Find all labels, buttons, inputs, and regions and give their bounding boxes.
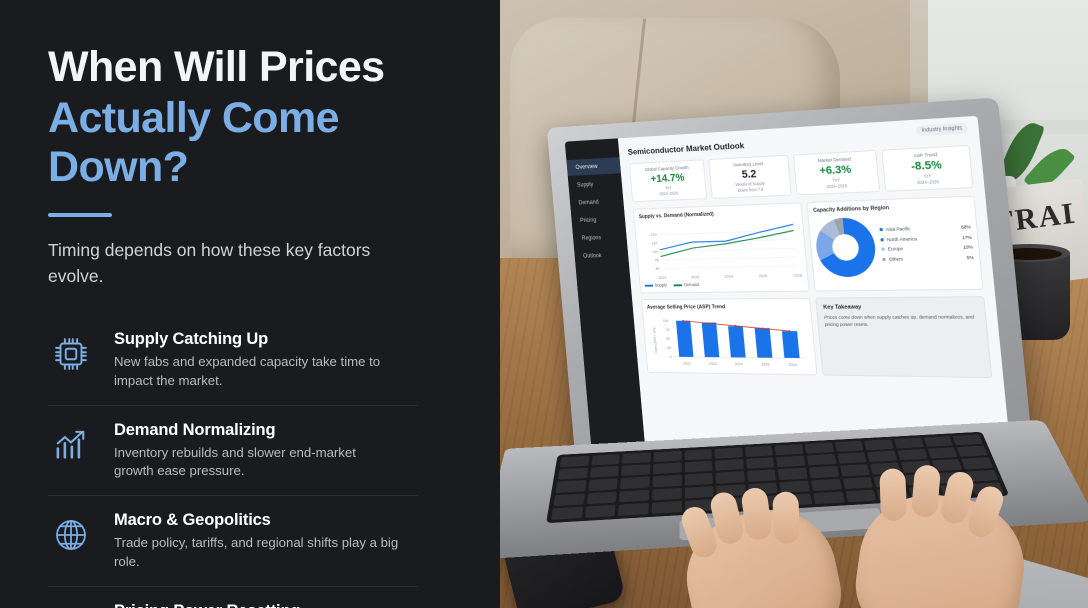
takeaway-title: Key Takeaway [823, 304, 978, 311]
list-item-text: Supply Catching Up New fabs and expanded… [114, 329, 399, 390]
chart-legend: Supply Demand [645, 281, 804, 288]
list-item-text: Macro & Geopolitics Trade policy, tariff… [114, 510, 399, 571]
legend-swatch [880, 228, 883, 231]
svg-text:50: 50 [666, 337, 670, 341]
chip-icon [48, 331, 94, 377]
list-item-text: Demand Normalizing Inventory rebuilds an… [114, 420, 399, 481]
key[interactable] [775, 444, 804, 455]
donut-chart: Asia Pacific 68% North America 17% [814, 212, 976, 280]
key[interactable] [811, 479, 841, 491]
laptop-screen: Overview Supply Demand Pricing Regions O… [565, 116, 1013, 476]
key[interactable] [814, 491, 845, 504]
key[interactable] [927, 447, 957, 458]
line-chart: 809010011012020222023202420252026 [639, 218, 802, 282]
key[interactable] [897, 449, 927, 460]
dashboard-main: Industry Insights Semiconductor Market O… [618, 116, 1013, 476]
legend-label: Asia Pacific [886, 225, 961, 232]
key[interactable] [845, 489, 876, 502]
list-item-title: Supply Catching Up [114, 330, 399, 349]
donut-ring [814, 217, 878, 277]
svg-text:25: 25 [667, 346, 671, 350]
legend-label: North America [887, 235, 963, 242]
key[interactable] [585, 505, 616, 518]
list-item-description: New fabs and expanded capacity take time… [114, 353, 399, 390]
key[interactable] [591, 454, 620, 466]
key[interactable] [684, 473, 713, 485]
list-item-description: Inventory rebuilds and slower end-market… [114, 444, 399, 481]
key[interactable] [843, 477, 874, 489]
key[interactable] [556, 480, 587, 492]
key[interactable] [805, 442, 834, 453]
kpi-card-inventory-level: Inventory Level 5.2 Weeks of Supply Down… [708, 155, 791, 199]
svg-text:75: 75 [665, 328, 669, 332]
finger [911, 464, 941, 518]
finger [772, 491, 800, 544]
key[interactable] [620, 477, 649, 489]
legend-swatch [882, 257, 885, 260]
finger [879, 468, 907, 521]
key[interactable] [953, 434, 983, 445]
laptop: Overview Supply Demand Pricing Regions O… [528, 112, 1068, 592]
key[interactable] [809, 466, 839, 478]
bar-chart-panel: Average Selling Price (ASP) Trend 025507… [641, 298, 818, 376]
dollar-circle-icon [48, 603, 94, 608]
key[interactable] [746, 457, 775, 469]
key[interactable] [840, 464, 870, 476]
sidebar-item-overview[interactable]: Overview [566, 157, 621, 176]
headline-line-2: Actually Come Down? [48, 94, 460, 190]
list-item: Supply Catching Up New fabs and expanded… [48, 315, 418, 405]
kpi-card-market-demand: Market Demand +6.3% YoY 2024–2026 [792, 150, 880, 195]
list-item-title: Macro & Geopolitics [114, 511, 399, 530]
legend-item-asia-pacific: Asia Pacific 68% [880, 224, 972, 232]
legend-swatch [645, 285, 653, 287]
svg-text:80: 80 [655, 267, 659, 271]
headline-line-1: When Will Prices [48, 44, 460, 90]
svg-text:2026: 2026 [788, 363, 797, 367]
legend-value: 68% [961, 224, 971, 230]
key[interactable] [621, 464, 650, 476]
legend-label: Supply [655, 283, 667, 288]
legend-swatch [674, 284, 682, 286]
svg-text:2023: 2023 [709, 362, 717, 366]
list-item-text: Pricing Power Resetting Suppliers regain… [114, 601, 399, 608]
svg-text:2022: 2022 [683, 362, 691, 366]
legend-value: 10% [963, 244, 973, 250]
legend-label: Europe [888, 245, 964, 252]
key[interactable] [835, 441, 864, 452]
key[interactable] [590, 466, 619, 478]
key[interactable] [778, 468, 808, 480]
svg-text:2026: 2026 [793, 274, 802, 278]
key[interactable] [867, 451, 897, 462]
key[interactable] [864, 439, 893, 450]
key[interactable] [619, 489, 649, 502]
legend-value: 5% [966, 254, 974, 259]
sidebar-item-pricing[interactable]: Pricing [571, 211, 626, 229]
svg-text:Index (2022 = 100): Index (2022 = 100) [652, 328, 658, 353]
svg-text:2024: 2024 [724, 275, 733, 279]
factor-list: Supply Catching Up New fabs and expanded… [48, 315, 460, 608]
key[interactable] [777, 456, 806, 468]
list-item: Pricing Power Resetting Suppliers regain… [48, 587, 418, 608]
page-title: When Will Prices Actually Come Down? [48, 44, 460, 191]
legend-item-north-america: North America 17% [880, 234, 972, 242]
globe-icon [48, 512, 94, 558]
key[interactable] [747, 470, 776, 482]
photo-scene: CENTRAL Overview Supply Demand Pricing R… [500, 0, 1088, 608]
legend-swatch [882, 248, 885, 251]
legend-item-demand: Demand [674, 282, 700, 287]
svg-text:100: 100 [663, 319, 669, 323]
sidebar-item-supply[interactable]: Supply [568, 175, 623, 193]
svg-text:100: 100 [652, 250, 658, 254]
charts-row-top: Supply vs. Demand (Normalized) 809010011… [633, 196, 984, 294]
key[interactable] [837, 452, 867, 464]
list-item-title: Pricing Power Resetting [114, 602, 399, 608]
accent-divider [48, 213, 112, 217]
svg-text:120: 120 [650, 233, 656, 237]
sidebar-item-outlook[interactable]: Outlook [574, 247, 629, 264]
line-chart-panel: Supply vs. Demand (Normalized) 809010011… [633, 202, 810, 293]
legend-item-others: Others 5% [882, 254, 974, 261]
key[interactable] [923, 436, 953, 447]
list-item-title: Demand Normalizing [114, 421, 399, 440]
bar-chart-growth-icon [48, 422, 94, 468]
list-item: Demand Normalizing Inventory rebuilds an… [48, 406, 418, 496]
key[interactable] [745, 446, 773, 457]
donut-chart-panel: Capacity Additions by Region Asia Pacifi… [806, 196, 983, 292]
svg-text:2023: 2023 [691, 275, 700, 279]
key[interactable] [622, 452, 650, 463]
takeaway-text: Prices come down when supply catches up,… [824, 313, 980, 328]
bar-chart: 025507510020222023202420252026Index (202… [648, 313, 812, 369]
legend-label: Others [889, 255, 967, 262]
key[interactable] [957, 446, 988, 457]
legend-value: 17% [962, 234, 972, 240]
key[interactable] [653, 463, 681, 475]
subtitle: Timing depends on how these key factors … [48, 237, 378, 290]
kpi-card-asp-trend: ASP Trend -8.5% YoY 2024–2026 [881, 145, 974, 192]
slide-root: When Will Prices Actually Come Down? Tim… [0, 0, 1088, 608]
left-content-panel: When Will Prices Actually Come Down? Tim… [0, 0, 500, 608]
key[interactable] [652, 488, 681, 501]
list-item-description: Trade policy, tariffs, and regional shif… [114, 534, 399, 571]
key[interactable] [715, 459, 743, 471]
key[interactable] [652, 501, 682, 514]
key[interactable] [558, 468, 588, 480]
charts-row-bottom: Average Selling Price (ASP) Trend 025507… [641, 296, 992, 378]
key[interactable] [715, 447, 743, 458]
key[interactable] [653, 451, 681, 462]
key[interactable] [685, 486, 714, 499]
chart-title: Average Selling Price (ASP) Trend [647, 304, 806, 311]
svg-text:2025: 2025 [761, 363, 769, 367]
legend-item-supply: Supply [645, 283, 667, 288]
legend-label: Demand [684, 282, 700, 287]
key[interactable] [807, 454, 836, 466]
sidebar-item-demand[interactable]: Demand [569, 193, 624, 211]
key[interactable] [553, 493, 584, 506]
svg-text:90: 90 [655, 258, 659, 262]
key[interactable] [894, 438, 924, 449]
svg-text:0: 0 [670, 355, 672, 359]
key[interactable] [962, 457, 993, 469]
donut-legend: Asia Pacific 68% North America 17% [880, 224, 975, 266]
svg-text:2024: 2024 [735, 362, 743, 366]
key[interactable] [586, 491, 616, 504]
legend-item-europe: Europe 10% [881, 244, 973, 251]
svg-text:2025: 2025 [758, 274, 767, 278]
sidebar-item-regions[interactable]: Regions [573, 229, 628, 247]
key-takeaway-card: Key Takeaway Prices come down when suppl… [815, 296, 992, 378]
dashboard-app: Overview Supply Demand Pricing Regions O… [565, 116, 1013, 476]
key[interactable] [684, 449, 712, 460]
list-item: Macro & Geopolitics Trade policy, tariff… [48, 496, 418, 586]
kpi-card-capacity-growth: Global Capacity Growth +14.7% YoY 2024–2… [629, 159, 708, 202]
key[interactable] [653, 475, 682, 487]
key[interactable] [684, 461, 712, 473]
svg-text:110: 110 [651, 241, 657, 245]
key[interactable] [560, 456, 589, 468]
svg-text:2022: 2022 [658, 276, 666, 280]
key[interactable] [588, 478, 618, 490]
key[interactable] [716, 471, 745, 483]
legend-swatch [881, 238, 884, 241]
key[interactable] [618, 503, 648, 516]
key[interactable] [551, 507, 583, 520]
